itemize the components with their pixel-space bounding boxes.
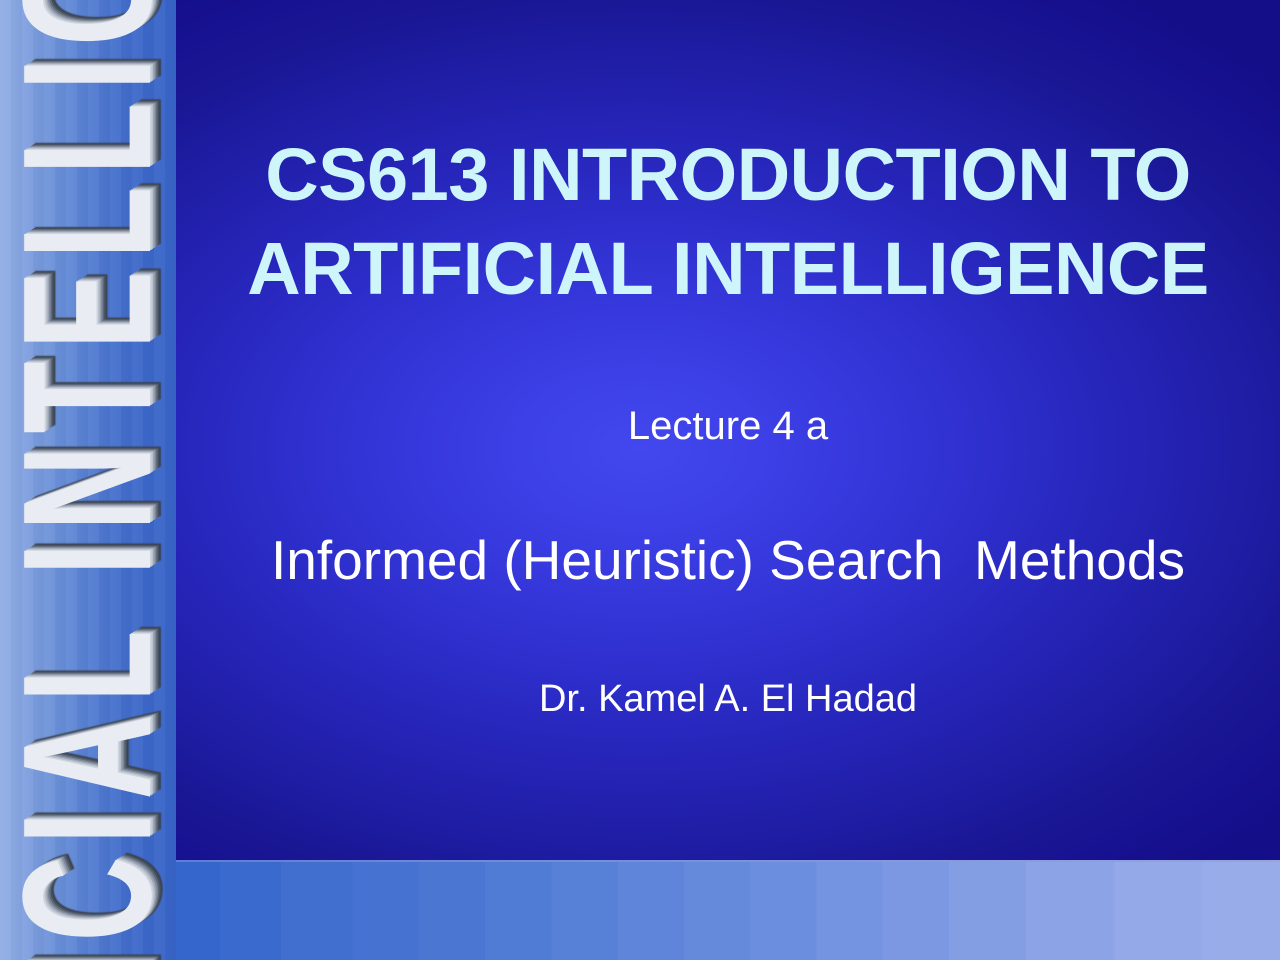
footer-gradient-strip (176, 862, 1280, 960)
lecture-label: Lecture 4 a (176, 395, 1280, 457)
title-line-1: CS613 INTRODUCTION TO (176, 128, 1280, 222)
page-title: CS613 INTRODUCTION TO ARTIFICIAL INTELLI… (176, 128, 1280, 316)
topic-label: Informed (Heuristic) Search Methods (176, 525, 1280, 595)
sidebar-vertical-wordmark: ARTIFICIAL INTELLIGENCE (29, 0, 147, 960)
sidebar-decoration: ARTIFICIAL INTELLIGENCE (0, 0, 176, 960)
subtitle-spacer-2 (176, 595, 1280, 673)
author-label: Dr. Kamel A. El Hadad (176, 673, 1280, 725)
subtitle-group: Lecture 4 a Informed (Heuristic) Search … (176, 395, 1280, 725)
subtitle-spacer-1 (176, 457, 1280, 525)
title-line-2: ARTIFICIAL INTELLIGENCE (176, 222, 1280, 316)
sidebar-wordmark-text: ARTIFICIAL INTELLIGENCE (0, 0, 176, 960)
presentation-slide: ARTIFICIAL INTELLIGENCE CS613 INTRODUCTI… (0, 0, 1280, 960)
